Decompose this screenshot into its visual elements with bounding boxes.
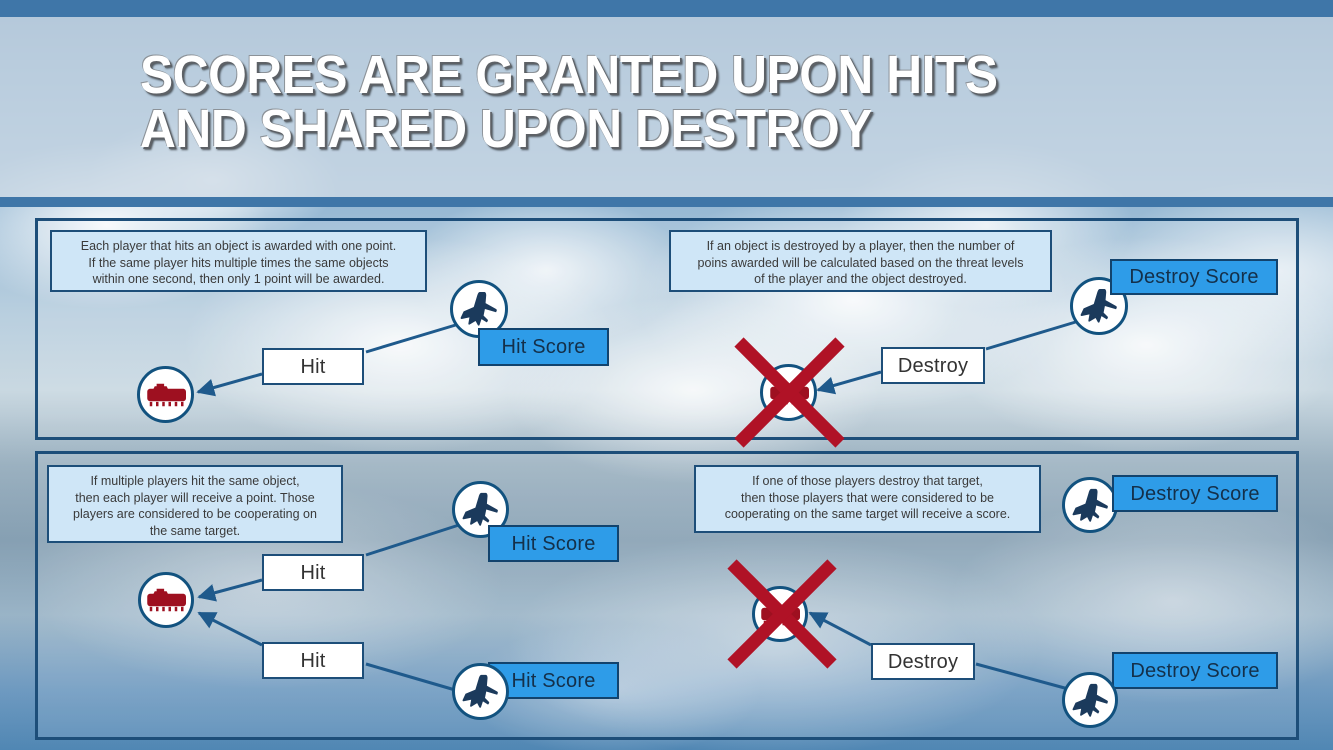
top-accent-strip [0, 0, 1333, 17]
action-label-hit-bottom-left-1[interactable]: Hit [262, 554, 364, 591]
fighter-jet-icon-bottom-right-1[interactable] [1062, 477, 1118, 533]
fighter-jet-icon [458, 288, 500, 330]
fighter-jet-icon [1070, 485, 1111, 526]
tank-icon [146, 585, 186, 615]
description-destroy-single: If an object is destroyed by a player, t… [669, 230, 1052, 292]
tank-icon [769, 378, 809, 408]
description-hit-multi: If multiple players hit the same object,… [47, 465, 343, 543]
description-destroy-multi: If one of those players destroy that tar… [694, 465, 1041, 533]
slide-title: SCORES ARE GRANTED UPON HITS AND SHARED … [140, 48, 1152, 156]
tank-icon-destroyed-top-right[interactable] [760, 364, 817, 421]
fighter-jet-icon [1070, 680, 1111, 721]
fighter-jet-icon-bottom-left-2[interactable] [452, 663, 509, 720]
tank-icon-bottom-left[interactable] [138, 572, 194, 628]
fighter-jet-icon-bottom-right-2[interactable] [1062, 672, 1118, 728]
tank-icon [146, 380, 186, 410]
action-label-destroy-bottom-right[interactable]: Destroy [871, 643, 975, 680]
score-badge-hit-bottom-left-1[interactable]: Hit Score [488, 525, 619, 562]
fighter-jet-icon [460, 671, 501, 712]
tank-icon [760, 599, 800, 629]
action-label-destroy-top-right[interactable]: Destroy [881, 347, 985, 384]
action-label-hit-bottom-left-2[interactable]: Hit [262, 642, 364, 679]
tank-icon-destroyed-bottom-right[interactable] [752, 586, 808, 642]
slide-canvas: SCORES ARE GRANTED UPON HITS AND SHARED … [0, 0, 1333, 750]
score-badge-destroy-bottom-right-1[interactable]: Destroy Score [1112, 475, 1278, 512]
description-hit-single: Each player that hits an object is award… [50, 230, 427, 292]
score-badge-destroy-bottom-right-2[interactable]: Destroy Score [1112, 652, 1278, 689]
fighter-jet-icon [460, 489, 501, 530]
tank-icon-top-left[interactable] [137, 366, 194, 423]
action-label-hit-top-left[interactable]: Hit [262, 348, 364, 385]
score-badge-hit-top-left[interactable]: Hit Score [478, 328, 609, 366]
score-badge-destroy-top-right[interactable]: Destroy Score [1110, 259, 1278, 295]
title-band-underline [0, 197, 1333, 207]
